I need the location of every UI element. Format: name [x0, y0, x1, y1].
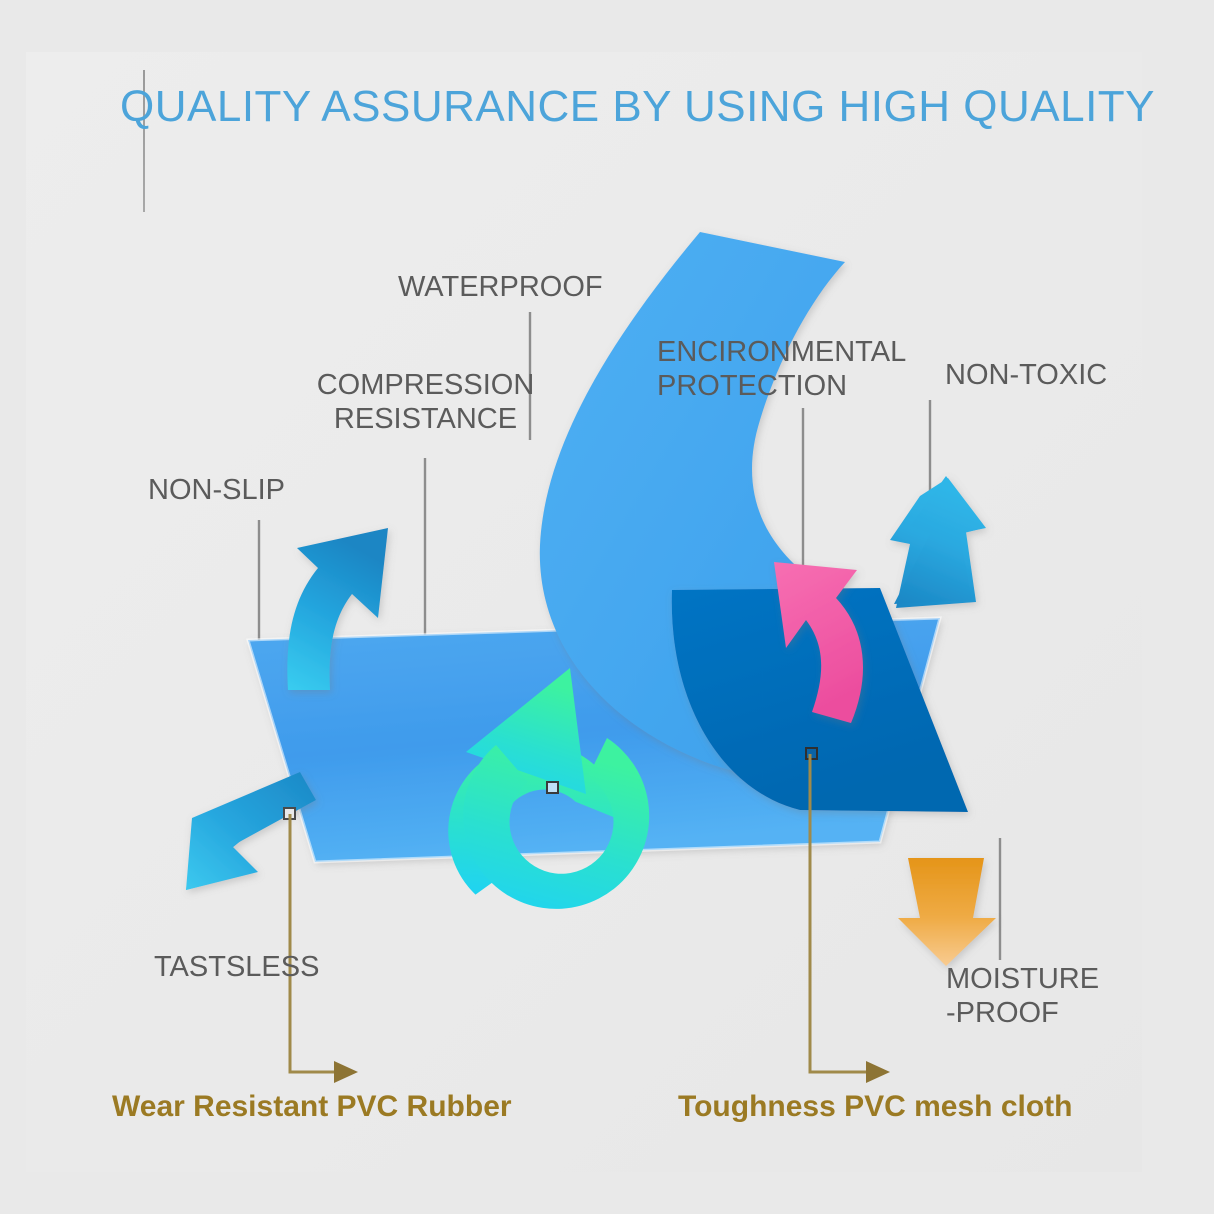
label-non-toxic: NON-TOXIC — [945, 358, 1107, 392]
callout-toughness-pvc-mesh-cloth: Toughness PVC mesh cloth — [678, 1090, 1073, 1124]
tastsless-arrow-down-left-icon — [186, 762, 316, 890]
page-title: QUALITY ASSURANCE BY USING HIGH QUALITY — [120, 82, 1155, 132]
arrowhead-mesh — [866, 1061, 890, 1083]
label-waterproof: WATERPROOF — [398, 270, 603, 304]
infographic-canvas: QUALITY ASSURANCE BY USING HIGH QUALITY … — [0, 0, 1214, 1214]
callout-wear-resistant-pvc-rubber: Wear Resistant PVC Rubber — [112, 1090, 512, 1124]
label-moisture-proof: MOISTURE -PROOF — [946, 962, 1099, 1030]
label-compression-resistance: COMPRESSION RESISTANCE — [258, 368, 593, 436]
non-toxic-arrow-up-icon — [890, 476, 986, 608]
label-environmental-protection: ENCIRONMENTAL PROTECTION — [657, 335, 906, 403]
product-illustration — [0, 0, 1214, 1214]
label-tastsless: TASTSLESS — [154, 950, 319, 984]
moisture-proof-arrow-down-icon — [898, 858, 996, 966]
arrowhead-rubber — [334, 1061, 358, 1083]
label-non-slip: NON-SLIP — [148, 473, 285, 507]
